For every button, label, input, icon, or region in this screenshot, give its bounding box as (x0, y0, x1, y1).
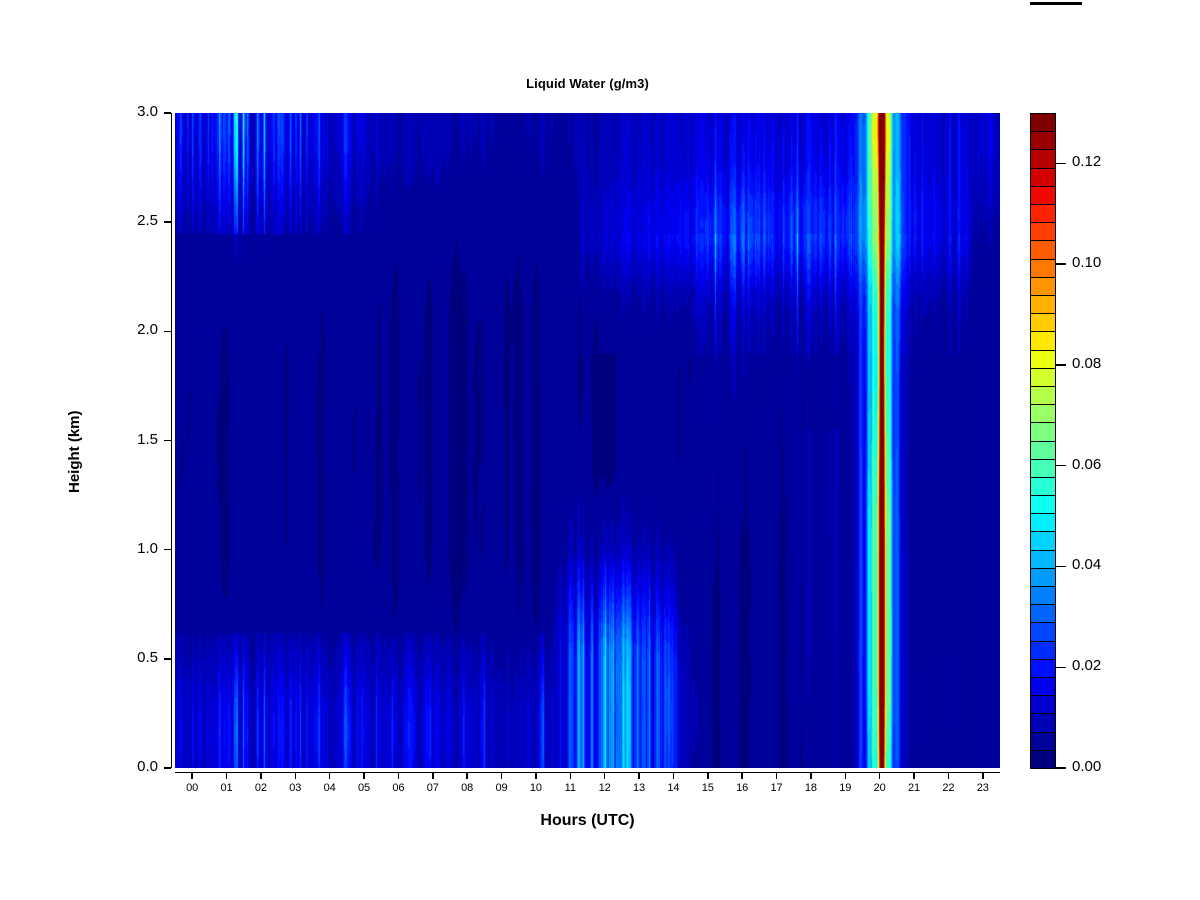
x-tick-label: 01 (212, 782, 242, 794)
colorbar-cell (1030, 568, 1056, 587)
x-tick (295, 772, 296, 779)
chart-title: Liquid Water (g/m3) (175, 76, 1000, 91)
colorbar-cell (1030, 386, 1056, 405)
colorbar-tick (1056, 767, 1066, 768)
x-tick-label: 00 (177, 782, 207, 794)
x-tick (329, 772, 330, 779)
y-tick-label: 1.5 (112, 431, 158, 448)
colorbar-tick (1056, 667, 1066, 668)
x-axis-line (175, 772, 1000, 773)
colorbar-tick-label: 0.02 (1072, 657, 1101, 674)
x-tick (982, 772, 983, 779)
x-tick-label: 23 (968, 782, 998, 794)
colorbar-tick-label: 0.04 (1072, 556, 1101, 573)
x-tick-label: 19 (830, 782, 860, 794)
x-tick-label: 22 (933, 782, 963, 794)
x-tick (535, 772, 536, 779)
colorbar-cell (1030, 459, 1056, 478)
x-tick-label: 04 (315, 782, 345, 794)
colorbar-tick (1056, 465, 1066, 466)
colorbar-cell (1030, 677, 1056, 696)
x-tick (570, 772, 571, 779)
colorbar-cell (1030, 149, 1056, 168)
x-tick (501, 772, 502, 779)
x-tick (226, 772, 227, 779)
x-tick-label: 02 (246, 782, 276, 794)
y-tick (164, 549, 171, 550)
x-tick (432, 772, 433, 779)
colorbar-cell (1030, 313, 1056, 332)
x-tick (913, 772, 914, 779)
x-tick-label: 17 (762, 782, 792, 794)
colorbar-cell (1030, 368, 1056, 387)
x-tick-label: 05 (349, 782, 379, 794)
colorbar-cell (1030, 695, 1056, 714)
x-tick-label: 15 (693, 782, 723, 794)
colorbar-cell (1030, 222, 1056, 241)
y-tick (164, 767, 171, 768)
colorbar-cell (1030, 531, 1056, 550)
x-tick (845, 772, 846, 779)
x-tick (776, 772, 777, 779)
y-tick-label: 2.5 (112, 212, 158, 229)
colorbar-tick-label: 0.08 (1072, 355, 1101, 372)
x-tick-label: 03 (280, 782, 310, 794)
x-tick (638, 772, 639, 779)
colorbar-cell (1030, 750, 1056, 769)
x-tick (673, 772, 674, 779)
y-tick-label: 2.0 (112, 321, 158, 338)
x-tick-label: 14 (658, 782, 688, 794)
colorbar-tick (1056, 263, 1066, 264)
colorbar-cell (1030, 477, 1056, 496)
x-tick-label: 20 (865, 782, 895, 794)
heatmap-plot-area (175, 113, 1000, 768)
colorbar-cell (1030, 495, 1056, 514)
colorbar-cell (1030, 404, 1056, 423)
colorbar-tick (1056, 163, 1066, 164)
colorbar-cell (1030, 604, 1056, 623)
x-tick (810, 772, 811, 779)
x-tick (191, 772, 192, 779)
corner-rule-mark (1030, 2, 1082, 5)
colorbar-cell (1030, 204, 1056, 223)
colorbar-cell (1030, 732, 1056, 751)
colorbar-cell (1030, 586, 1056, 605)
y-tick-label: 0.5 (112, 649, 158, 666)
colorbar (1030, 113, 1056, 768)
colorbar-cell (1030, 295, 1056, 314)
colorbar-cell (1030, 277, 1056, 296)
y-axis-line (171, 113, 172, 768)
x-tick-label: 16 (727, 782, 757, 794)
colorbar-cell (1030, 331, 1056, 350)
x-tick (363, 772, 364, 779)
colorbar-cell (1030, 513, 1056, 532)
x-tick-label: 21 (899, 782, 929, 794)
x-tick (741, 772, 742, 779)
colorbar-tick (1056, 566, 1066, 567)
colorbar-cell (1030, 622, 1056, 641)
heatmap-canvas (175, 113, 1000, 768)
colorbar-cell (1030, 350, 1056, 369)
x-tick-label: 12 (590, 782, 620, 794)
x-tick-label: 07 (418, 782, 448, 794)
colorbar-cell (1030, 441, 1056, 460)
chart-figure: Liquid Water (g/m3) 0.00.51.01.52.02.53.… (0, 0, 1200, 900)
x-tick (466, 772, 467, 779)
colorbar-cell (1030, 550, 1056, 569)
colorbar-cell (1030, 713, 1056, 732)
colorbar-cell (1030, 131, 1056, 150)
x-tick (948, 772, 949, 779)
x-tick-label: 11 (555, 782, 585, 794)
x-tick-label: 09 (487, 782, 517, 794)
x-tick (398, 772, 399, 779)
y-tick-label: 0.0 (112, 758, 158, 775)
y-tick (164, 658, 171, 659)
x-tick (260, 772, 261, 779)
colorbar-tick (1056, 364, 1066, 365)
x-tick (879, 772, 880, 779)
colorbar-tick-label: 0.10 (1072, 254, 1101, 271)
colorbar-cell (1030, 422, 1056, 441)
colorbar-cell (1030, 186, 1056, 205)
colorbar-cell (1030, 113, 1056, 132)
y-tick (164, 331, 171, 332)
x-tick-label: 10 (521, 782, 551, 794)
x-tick-label: 06 (383, 782, 413, 794)
colorbar-cell (1030, 659, 1056, 678)
colorbar-cell (1030, 641, 1056, 660)
x-tick (604, 772, 605, 779)
colorbar-tick-label: 0.06 (1072, 456, 1101, 473)
y-tick-label: 1.0 (112, 540, 158, 557)
x-tick-label: 18 (796, 782, 826, 794)
y-tick (164, 112, 171, 113)
y-tick-label: 3.0 (112, 103, 158, 120)
y-tick (164, 440, 171, 441)
x-tick-label: 08 (452, 782, 482, 794)
colorbar-tick-label: 0.00 (1072, 758, 1101, 775)
colorbar-cell (1030, 259, 1056, 278)
x-axis-label: Hours (UTC) (175, 812, 1000, 830)
x-tick (707, 772, 708, 779)
y-axis-label: Height (km) (66, 411, 83, 494)
colorbar-cell (1030, 168, 1056, 187)
y-tick (164, 221, 171, 222)
x-tick-label: 13 (624, 782, 654, 794)
colorbar-cell (1030, 240, 1056, 259)
colorbar-tick-label: 0.12 (1072, 153, 1101, 170)
